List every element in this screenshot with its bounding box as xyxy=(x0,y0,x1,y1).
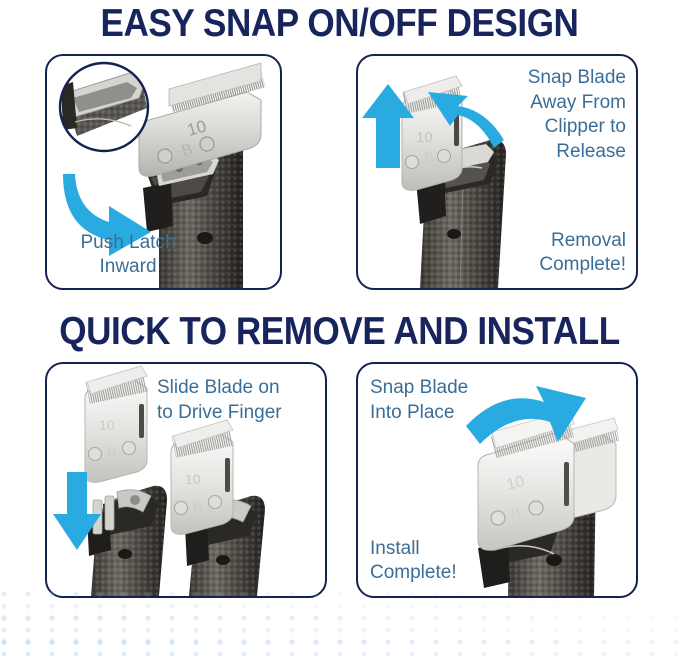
inset-closeup-latch xyxy=(60,63,148,151)
panel-snap-blade-away: 10 B Snap Blade Away From Clipper to Rel… xyxy=(356,54,638,290)
panel-push-latch: 10 B Push Latch Inward xyxy=(45,54,282,290)
svg-text:10: 10 xyxy=(185,471,201,487)
panel-slide-blade: 10 B 10 B Slide xyxy=(45,362,327,598)
svg-text:B: B xyxy=(107,445,116,460)
svg-text:10: 10 xyxy=(99,417,115,433)
snap-blade-left-floating: 10 B xyxy=(85,366,147,482)
page-title-middle: QUICK TO REMOVE AND INSTALL xyxy=(34,312,645,351)
caption-snap-blade-away: Snap Blade Away From Clipper to Release xyxy=(458,66,626,165)
snap-blade: 10 B xyxy=(139,63,265,176)
caption-snap-into-place: Snap Blade Into Place xyxy=(370,376,520,425)
snap-blade-right-seated: 10 B xyxy=(171,420,233,534)
svg-text:B: B xyxy=(424,150,434,166)
svg-text:B: B xyxy=(193,499,202,514)
panel-snap-into-place: 10 B Snap Blade Into Place Install Compl… xyxy=(356,362,638,598)
page-title-top: EASY SNAP ON/OFF DESIGN xyxy=(34,4,645,43)
caption-slide-blade: Slide Blade on to Drive Finger xyxy=(157,376,321,425)
svg-text:10: 10 xyxy=(416,129,433,146)
caption-push-latch: Push Latch Inward xyxy=(53,231,203,280)
caption-removal-complete: Removal Complete! xyxy=(458,229,626,278)
caption-install-complete: Install Complete! xyxy=(370,537,520,586)
decorative-dot-pattern xyxy=(0,590,679,662)
clipper-left xyxy=(87,486,167,596)
